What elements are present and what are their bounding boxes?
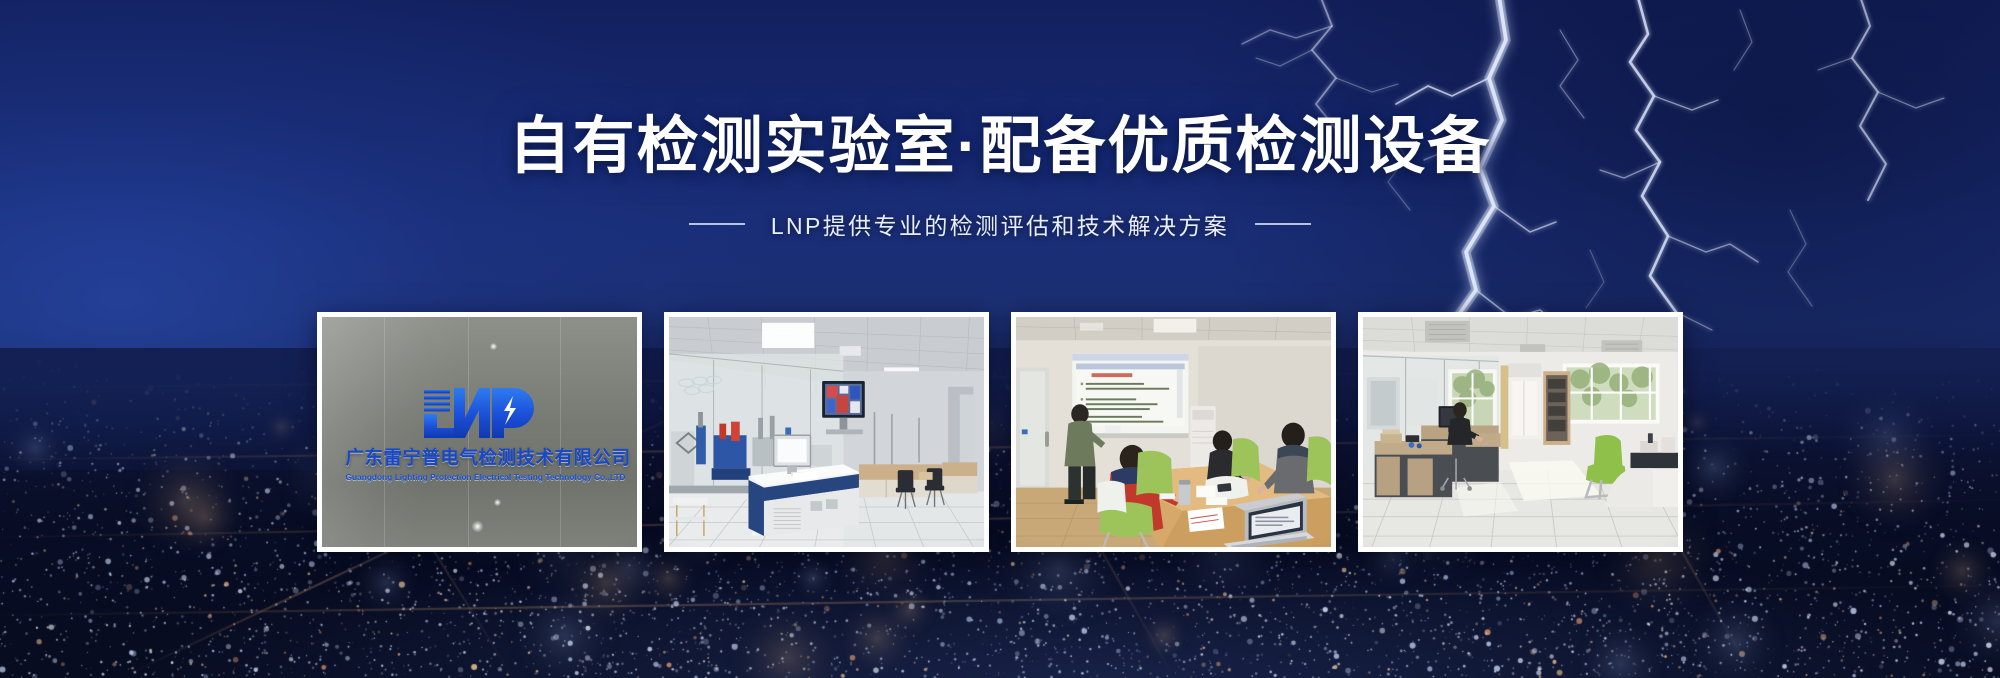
banner-subtitle: LNP提供专业的检测评估和技术解决方案 bbox=[771, 207, 1229, 241]
dash-right-icon bbox=[1255, 223, 1311, 225]
banner-title: 自有检测实验室·配备优质检测设备 bbox=[0, 112, 2000, 181]
headline-block: 自有检测实验室·配备优质检测设备 LNP提供专业的检测评估和技术解决方案 bbox=[0, 112, 2000, 241]
company-logo-block: 广东雷宁普电气检测技术有限公司 Guangdong Lighting Prote… bbox=[346, 382, 614, 482]
gallery-photo-testing-laboratory[interactable] bbox=[664, 312, 989, 552]
gallery-photo-company-logo-wall[interactable]: 广东雷宁普电气检测技术有限公司 Guangdong Lighting Prote… bbox=[317, 312, 642, 552]
office-photo bbox=[1363, 317, 1678, 547]
company-name-en: Guangdong Lighting Protection Electrical… bbox=[346, 473, 614, 482]
gallery-photo-office-area[interactable] bbox=[1358, 312, 1683, 552]
dash-left-icon bbox=[689, 223, 745, 225]
gallery-photo-training-meeting-room[interactable] bbox=[1011, 312, 1336, 552]
hero-banner: 自有检测实验室·配备优质检测设备 LNP提供专业的检测评估和技术解决方案 bbox=[0, 0, 2000, 678]
photo-gallery: 广东雷宁普电气检测技术有限公司 Guangdong Lighting Prote… bbox=[0, 312, 2000, 552]
subtitle-row: LNP提供专业的检测评估和技术解决方案 bbox=[0, 207, 2000, 241]
meeting-room-photo bbox=[1016, 317, 1331, 547]
company-name-cn: 广东雷宁普电气检测技术有限公司 bbox=[346, 444, 614, 470]
laboratory-photo bbox=[669, 317, 984, 547]
lnp-logo-icon bbox=[420, 382, 540, 440]
